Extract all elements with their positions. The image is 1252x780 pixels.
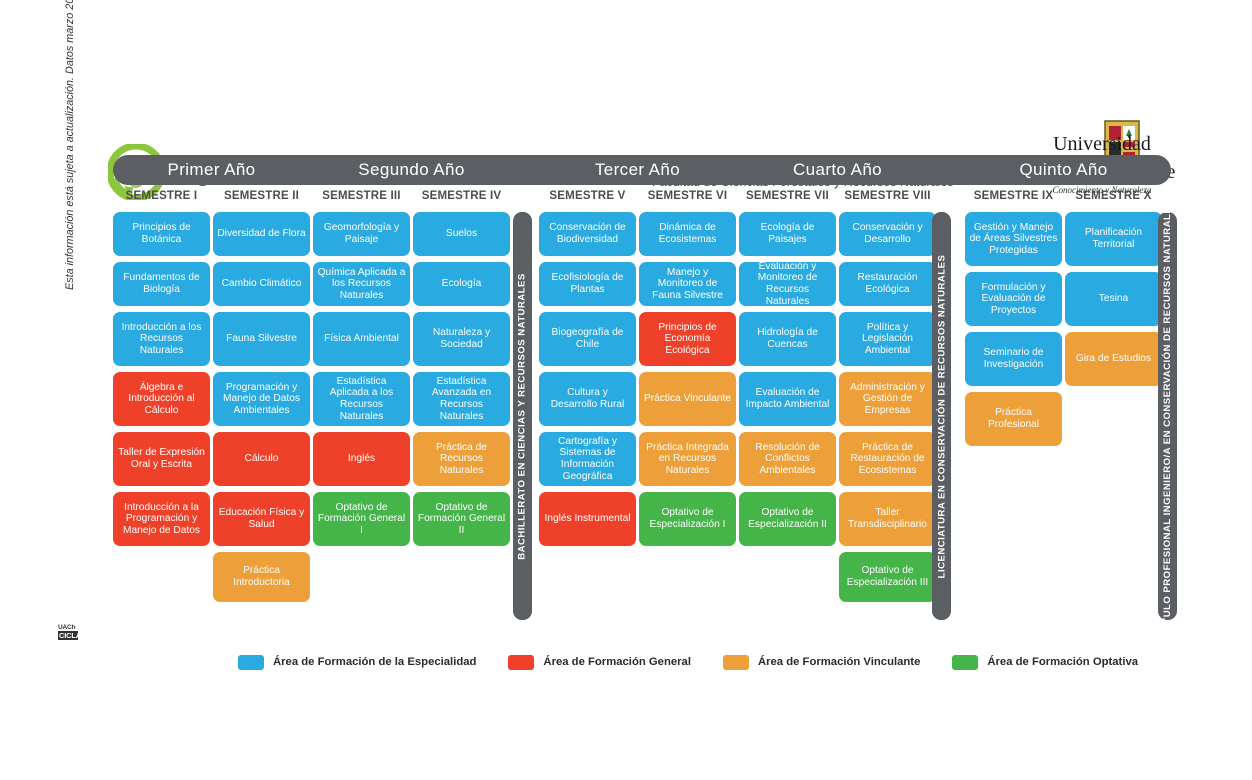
legend-item-3: Área de Formación Vinculante <box>723 655 920 670</box>
course-name: Conservación de Biodiversidad <box>543 222 632 245</box>
course-box[interactable]: Ecología de Paisajes <box>739 212 836 256</box>
course-box[interactable]: Seminario de Investigación <box>965 332 1062 386</box>
course-name: Evaluación de Impacto Ambiental <box>743 387 832 410</box>
semester-label-8: SEMESTRE VIII <box>839 190 936 208</box>
course-name: Cartografía y Sistemas de Información Ge… <box>543 436 632 482</box>
course-name: Inglés Instrumental <box>544 513 630 525</box>
vertical-bar-licenciatura: LICENCIATURA EN CONSERVACIÓN DE RECURSOS… <box>932 212 951 620</box>
semester-column-1: Principios de BotánicaFundamentos de Bio… <box>113 212 210 552</box>
course-name: Política y Legislación Ambiental <box>843 322 932 357</box>
course-name: Manejo y Monitoreo de Fauna Silvestre <box>643 267 732 302</box>
course-box[interactable]: Manejo y Monitoreo de Fauna Silvestre <box>639 262 736 306</box>
course-box[interactable]: Introducción a los Recursos Naturales <box>113 312 210 366</box>
course-name: Cultura y Desarrollo Rural <box>543 387 632 410</box>
course-box[interactable]: Inglés Instrumental <box>539 492 636 546</box>
legend-label: Área de Formación Optativa <box>987 656 1138 668</box>
course-name: Administración y Gestión de Empresas <box>843 382 932 417</box>
course-box[interactable]: Dinámica de Ecosistemas <box>639 212 736 256</box>
course-name: Geomorfología y Paisaje <box>317 222 406 245</box>
course-box[interactable]: Práctica Vinculante <box>639 372 736 426</box>
course-box[interactable]: Optativo de Formación General I <box>313 492 410 546</box>
course-box[interactable]: Introducción a la Programación y Manejo … <box>113 492 210 546</box>
course-box[interactable]: Química Aplicada a los Recursos Naturale… <box>313 262 410 306</box>
semester-label-2: SEMESTRE II <box>213 190 310 208</box>
vertical-bar-titulo: TÍTULO PROFESIONAL INGENIERO/A EN CONSER… <box>1158 212 1177 620</box>
legend-item-4: Área de Formación Optativa <box>952 655 1138 670</box>
update-note: Esta información está sujeta a actualiza… <box>64 0 76 290</box>
course-box[interactable]: Cultura y Desarrollo Rural <box>539 372 636 426</box>
course-box[interactable]: Optativo de Especialización I <box>639 492 736 546</box>
vertical-bar-licenciatura-label: LICENCIATURA EN CONSERVACIÓN DE RECURSOS… <box>936 254 947 578</box>
course-name: Planificación Territorial <box>1069 227 1158 250</box>
course-name: Taller de Expresión Oral y Escrita <box>117 447 206 470</box>
course-name: Práctica de Recursos Naturales <box>417 442 506 477</box>
course-box[interactable]: Tesina <box>1065 272 1162 326</box>
year-label-4: Cuarto Año <box>739 155 936 185</box>
course-box[interactable]: Práctica Introductoria <box>213 552 310 602</box>
course-name: Programación y Manejo de Datos Ambiental… <box>217 382 306 417</box>
course-box[interactable]: Biogeografía de Chile <box>539 312 636 366</box>
cicla-logo: UACh CICLA <box>58 624 78 642</box>
course-name: Seminario de Investigación <box>969 347 1058 370</box>
semester-header-row: SEMESTRE ISEMESTRE IISEMESTRE IIISEMESTR… <box>113 190 1171 208</box>
course-name: Optativo de Especialización I <box>643 507 732 530</box>
course-box[interactable]: Práctica Profesional <box>965 392 1062 446</box>
course-name: Práctica Profesional <box>969 407 1058 430</box>
course-box[interactable]: Fundamentos de Biología <box>113 262 210 306</box>
course-name: Naturaleza y Sociedad <box>417 327 506 350</box>
course-box[interactable]: Planificación Territorial <box>1065 212 1162 266</box>
course-box[interactable]: Política y Legislación Ambiental <box>839 312 936 366</box>
course-box[interactable]: Principios de Botánica <box>113 212 210 256</box>
course-box[interactable]: Educación Física y Salud <box>213 492 310 546</box>
course-box[interactable]: Taller Transdisciplinario <box>839 492 936 546</box>
legend-label: Área de Formación General <box>543 656 691 668</box>
course-name: Taller Transdisciplinario <box>843 507 932 530</box>
vertical-bar-titulo-label: TÍTULO PROFESIONAL INGENIERO/A EN CONSER… <box>1162 199 1173 632</box>
semester-column-4: SuelosEcologíaNaturaleza y SociedadEstad… <box>413 212 510 552</box>
semester-label-9: SEMESTRE IX <box>965 190 1062 208</box>
course-box[interactable]: Resolución de Conflictos Ambientales <box>739 432 836 486</box>
legend: Área de Formación de la EspecialidadÁrea… <box>238 652 1170 672</box>
course-name: Optativo de Formación General I <box>317 502 406 537</box>
course-name: Restauración Ecológica <box>843 272 932 295</box>
year-label-1: Primer Año <box>113 155 310 185</box>
course-name: Gestión y Manejo de Áreas Silvestres Pro… <box>969 222 1058 257</box>
course-name: Resolución de Conflictos Ambientales <box>743 442 832 477</box>
course-box[interactable]: Optativo de Especialización III <box>839 552 936 602</box>
course-box[interactable]: Cartografía y Sistemas de Información Ge… <box>539 432 636 486</box>
course-name: Ecología de Paisajes <box>743 222 832 245</box>
course-name: Química Aplicada a los Recursos Naturale… <box>317 267 406 302</box>
course-box[interactable]: Práctica de Recursos Naturales <box>413 432 510 486</box>
semester-column-3: Geomorfología y PaisajeQuímica Aplicada … <box>313 212 410 552</box>
year-label-5: Quinto Año <box>965 155 1162 185</box>
cicla-logo-bottom: CICLA <box>58 631 78 640</box>
semester-column-7: Ecología de PaisajesEvaluación y Monitor… <box>739 212 836 552</box>
course-name: Ecofisiología de Plantas <box>543 272 632 295</box>
semester-label-10: SEMESTRE X <box>1065 190 1162 208</box>
semester-column-5: Conservación de BiodiversidadEcofisiolog… <box>539 212 636 552</box>
course-box[interactable]: Principios de Economía Ecológica <box>639 312 736 366</box>
semester-column-8: Conservación y DesarrolloRestauración Ec… <box>839 212 936 608</box>
course-name: Optativo de Especialización III <box>843 565 932 588</box>
course-name: Principios de Economía Ecológica <box>643 322 732 357</box>
course-name: Práctica Vinculante <box>644 393 731 405</box>
course-name: Práctica Integrada en Recursos Naturales <box>643 442 732 477</box>
semester-label-7: SEMESTRE VII <box>739 190 836 208</box>
semester-column-6: Dinámica de EcosistemasManejo y Monitore… <box>639 212 736 552</box>
legend-label: Área de Formación Vinculante <box>758 656 920 668</box>
course-box[interactable]: Gira de Estudios <box>1065 332 1162 386</box>
course-box[interactable]: Fauna Silvestre <box>213 312 310 366</box>
course-box[interactable]: Inglés <box>313 432 410 486</box>
course-box[interactable]: Gestión y Manejo de Áreas Silvestres Pro… <box>965 212 1062 266</box>
vertical-bar-bachillerato-label: BACHILLERATO EN CIENCIAS Y RECURSOS NATU… <box>517 273 528 559</box>
course-box[interactable]: Ecología <box>413 262 510 306</box>
course-name: Fauna Silvestre <box>226 333 297 345</box>
course-name: Estadística Avanzada en Recursos Natural… <box>417 376 506 422</box>
course-name: Estadística Aplicada a los Recursos Natu… <box>317 376 406 422</box>
semester-column-2: Diversidad de FloraCambio ClimáticoFauna… <box>213 212 310 608</box>
course-box[interactable]: Diversidad de Flora <box>213 212 310 256</box>
course-box[interactable]: Evaluación de Impacto Ambiental <box>739 372 836 426</box>
semester-column-9: Gestión y Manejo de Áreas Silvestres Pro… <box>965 212 1062 452</box>
semester-label-1: SEMESTRE I <box>113 190 210 208</box>
course-name: Álgebra e Introducción al Cálculo <box>117 382 206 417</box>
course-box[interactable]: Optativo de Especialización II <box>739 492 836 546</box>
semester-label-6: SEMESTRE VI <box>639 190 736 208</box>
course-name: Optativo de Especialización II <box>743 507 832 530</box>
legend-swatch <box>952 655 978 670</box>
course-name: Fundamentos de Biología <box>117 272 206 295</box>
legend-swatch <box>508 655 534 670</box>
legend-label: Área de Formación de la Especialidad <box>273 656 476 668</box>
course-box[interactable]: Cálculo <box>213 432 310 486</box>
course-box[interactable]: Conservación de Biodiversidad <box>539 212 636 256</box>
course-name: Práctica Introductoria <box>217 565 306 588</box>
course-name: Cálculo <box>245 453 279 465</box>
course-name: Dinámica de Ecosistemas <box>643 222 732 245</box>
course-box[interactable]: Evaluación y Monitoreo de Recursos Natur… <box>739 262 836 306</box>
course-box[interactable]: Estadística Avanzada en Recursos Natural… <box>413 372 510 426</box>
semester-label-5: SEMESTRE V <box>539 190 636 208</box>
course-name: Biogeografía de Chile <box>543 327 632 350</box>
legend-item-2: Área de Formación General <box>508 655 691 670</box>
page-header: Ingeniería en Conservación de Recursos N… <box>0 62 1252 142</box>
course-box[interactable]: Cambio Climático <box>213 262 310 306</box>
course-name: Física Ambiental <box>324 333 399 345</box>
course-box[interactable]: Optativo de Formación General II <box>413 492 510 546</box>
course-box[interactable]: Formulación y Evaluación de Proyectos <box>965 272 1062 326</box>
course-name: Inglés <box>348 453 375 465</box>
course-name: Introducción a la Programación y Manejo … <box>117 502 206 537</box>
course-box[interactable]: Geomorfología y Paisaje <box>313 212 410 256</box>
course-name: Formulación y Evaluación de Proyectos <box>969 282 1058 317</box>
cicla-logo-top: UACh <box>58 624 78 631</box>
year-header-bar: Primer AñoSegundo AñoTercer AñoCuarto Añ… <box>113 155 1171 185</box>
vertical-bar-bachillerato: BACHILLERATO EN CIENCIAS Y RECURSOS NATU… <box>513 212 532 620</box>
course-box[interactable]: Restauración Ecológica <box>839 262 936 306</box>
course-box[interactable]: Suelos <box>413 212 510 256</box>
course-name: Hidrología de Cuencas <box>743 327 832 350</box>
legend-item-1: Área de Formación de la Especialidad <box>238 655 476 670</box>
legend-swatch <box>723 655 749 670</box>
course-name: Cambio Climático <box>222 278 302 290</box>
course-name: Diversidad de Flora <box>217 228 305 240</box>
course-box[interactable]: Práctica Integrada en Recursos Naturales <box>639 432 736 486</box>
semester-label-4: SEMESTRE IV <box>413 190 510 208</box>
curriculum-poster: Ingeniería en Conservación de Recursos N… <box>0 0 1252 780</box>
course-name: Optativo de Formación General II <box>417 502 506 537</box>
course-name: Evaluación y Monitoreo de Recursos Natur… <box>743 261 832 307</box>
course-name: Ecología <box>442 278 482 290</box>
course-box[interactable]: Física Ambiental <box>313 312 410 366</box>
course-name: Principios de Botánica <box>117 222 206 245</box>
legend-swatch <box>238 655 264 670</box>
course-box[interactable]: Práctica de Restauración de Ecosistemas <box>839 432 936 486</box>
course-box[interactable]: Estadística Aplicada a los Recursos Natu… <box>313 372 410 426</box>
course-box[interactable]: Taller de Expresión Oral y Escrita <box>113 432 210 486</box>
course-grid: Principios de BotánicaFundamentos de Bio… <box>113 212 1171 622</box>
course-name: Introducción a los Recursos Naturales <box>117 322 206 357</box>
course-name: Tesina <box>1099 293 1128 305</box>
course-name: Gira de Estudios <box>1076 353 1151 365</box>
year-label-3: Tercer Año <box>539 155 736 185</box>
semester-column-10: Planificación TerritorialTesinaGira de E… <box>1065 212 1162 392</box>
course-box[interactable]: Álgebra e Introducción al Cálculo <box>113 372 210 426</box>
course-name: Conservación y Desarrollo <box>843 222 932 245</box>
year-label-2: Segundo Año <box>313 155 510 185</box>
course-box[interactable]: Administración y Gestión de Empresas <box>839 372 936 426</box>
course-name: Práctica de Restauración de Ecosistemas <box>843 442 932 477</box>
course-name: Suelos <box>446 228 477 240</box>
course-box[interactable]: Conservación y Desarrollo <box>839 212 936 256</box>
course-box[interactable]: Ecofisiología de Plantas <box>539 262 636 306</box>
semester-label-3: SEMESTRE III <box>313 190 410 208</box>
university-line-1: Universidad <box>1018 134 1186 155</box>
course-name: Educación Física y Salud <box>217 507 306 530</box>
course-box[interactable]: Programación y Manejo de Datos Ambiental… <box>213 372 310 426</box>
course-box[interactable]: Naturaleza y Sociedad <box>413 312 510 366</box>
course-box[interactable]: Hidrología de Cuencas <box>739 312 836 366</box>
